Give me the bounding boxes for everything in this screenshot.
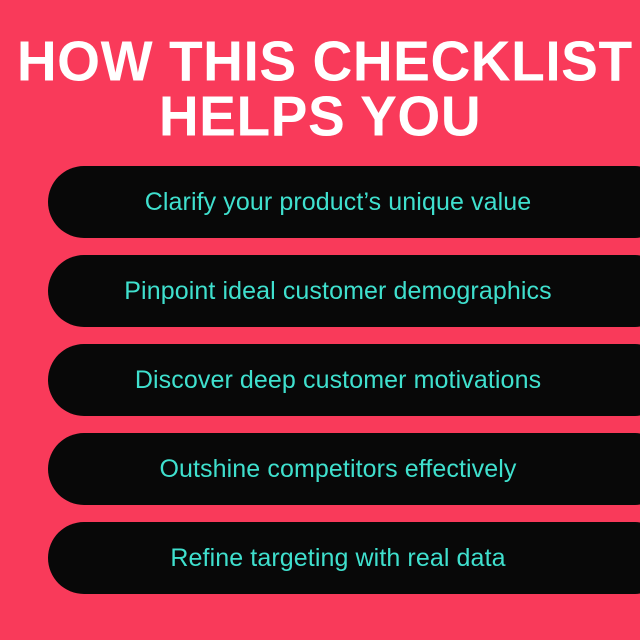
list-item[interactable]: Refine targeting with real data bbox=[48, 522, 640, 594]
checklist-poster: HOW THIS CHECKLIST HELPS YOU Clarify you… bbox=[0, 0, 640, 640]
list-item[interactable]: Discover deep customer motivations bbox=[48, 344, 640, 416]
checklist-benefit-list: Clarify your product’s unique value Pinp… bbox=[48, 166, 640, 594]
list-item-label: Discover deep customer motivations bbox=[135, 368, 541, 393]
page-title-line-2: HELPS YOU bbox=[17, 91, 623, 144]
list-item[interactable]: Outshine competitors effectively bbox=[48, 433, 640, 505]
list-item-label: Refine targeting with real data bbox=[170, 546, 505, 571]
page-title-line-1: HOW THIS CHECKLIST bbox=[17, 36, 623, 89]
list-item-label: Pinpoint ideal customer demographics bbox=[124, 279, 551, 304]
list-item-label: Clarify your product’s unique value bbox=[145, 190, 532, 215]
list-item-label: Outshine competitors effectively bbox=[159, 457, 516, 482]
list-item[interactable]: Clarify your product’s unique value bbox=[48, 166, 640, 238]
page-title: HOW THIS CHECKLIST HELPS YOU bbox=[0, 38, 640, 143]
list-item[interactable]: Pinpoint ideal customer demographics bbox=[48, 255, 640, 327]
